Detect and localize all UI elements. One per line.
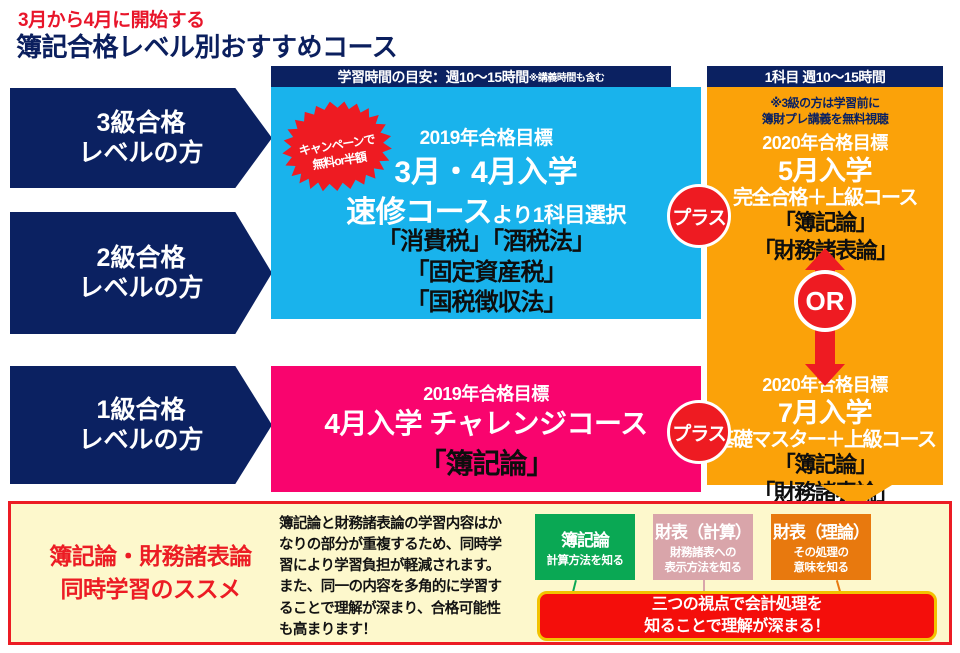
level-grade2-line2: レベルの方 bbox=[78, 273, 203, 304]
header-center-main-text: 学習時間の目安：週10〜15時間 bbox=[338, 67, 529, 87]
level-arrow-grade2[interactable]: 2級合格 レベルの方 bbox=[10, 212, 272, 334]
blue-subject-line2: 「固定資産税」 bbox=[271, 258, 701, 289]
chip-green-title: 簿記論 bbox=[561, 526, 609, 551]
plus-badge-top: プラス bbox=[667, 184, 731, 248]
level-grade1-line2: レベルの方 bbox=[78, 425, 203, 456]
chip-pink-desc1: 財務諸表への bbox=[670, 546, 736, 561]
bottom-title-line2: 同時学習のススメ bbox=[33, 573, 268, 606]
level-grade3-line2: レベルの方 bbox=[78, 138, 203, 169]
or-badge: OR bbox=[794, 270, 856, 332]
chip-pink-desc2: 表示方法を知る bbox=[665, 561, 742, 576]
arrow-down-head-icon bbox=[805, 364, 845, 386]
orange-note: ※3級の方は学習前に 簿財プレ講義を無料視聴 bbox=[707, 95, 943, 127]
infographic-canvas: 3月から4月に開始する 簿記合格レベル別おすすめコース 学習時間の目安：週10〜… bbox=[0, 0, 960, 653]
header-study-time-right: 1科目 週10〜15時間 bbox=[707, 66, 943, 87]
blue-subject-list: 「消費税」「酒税法」 「固定資産税」 「国税徴収法」 bbox=[271, 227, 701, 319]
level-grade2-line1: 2級合格 bbox=[97, 243, 186, 274]
level-grade1-line1: 1級合格 bbox=[97, 395, 186, 426]
blue-subject-line3: 「国税徴収法」 bbox=[271, 288, 701, 319]
concept-chip-zaihyo-riron: 財表（理論） その処理の 意味を知る bbox=[771, 514, 871, 580]
concept-chip-zaihyo-keisan: 財表（計算） 財務諸表への 表示方法を知る bbox=[653, 514, 753, 580]
course-panel-challenge[interactable]: 2019年合格目標 4月入学 チャレンジコース 「簿記論」 bbox=[271, 366, 701, 492]
chip-orange-desc2: 意味を知る bbox=[794, 561, 849, 576]
conclusion-callout: 三つの視点で会計処理を 知ることで理解が深まる！ bbox=[537, 591, 937, 641]
chip-orange-desc1: その処理の bbox=[794, 546, 849, 561]
level-arrow-grade1[interactable]: 1級合格 レベルの方 bbox=[10, 366, 272, 484]
chip-green-desc1: 計算方法を知る bbox=[547, 554, 624, 569]
bottom-box-title: 簿記論・財務諸表論 同時学習のススメ bbox=[33, 540, 268, 605]
bottom-title-line1: 簿記論・財務諸表論 bbox=[33, 540, 268, 573]
header-right-text: 1科目 週10〜15時間 bbox=[765, 67, 886, 87]
level-arrow-grade3[interactable]: 3級合格 レベルの方 bbox=[10, 88, 272, 188]
blue-course-label: 速修コースより1科目選択 bbox=[271, 187, 701, 231]
blue-subject-line1: 「消費税」「酒税法」 bbox=[271, 227, 701, 258]
callout-line2: 知ることで理解が深まる！ bbox=[644, 616, 830, 638]
pink-subject-label: 「簿記論」 bbox=[271, 442, 701, 482]
plus-badge-bottom: プラス bbox=[667, 400, 731, 464]
chip-pink-title: 財表（計算） bbox=[655, 518, 751, 543]
level-grade3-line1: 3級合格 bbox=[97, 108, 186, 139]
blue-course-main: 速修コース bbox=[346, 196, 492, 229]
concept-chip-boki: 簿記論 計算方法を知る bbox=[535, 514, 635, 580]
page-title: 簿記合格レベル別おすすめコース bbox=[16, 27, 397, 64]
chip-orange-title: 財表（理論） bbox=[773, 518, 869, 543]
callout-line1: 三つの視点で会計処理を bbox=[652, 594, 823, 616]
bottom-box-paragraph: 簿記論と財務諸表論の学習内容はかなりの部分が重複するため、同時学習により学習負担… bbox=[279, 514, 511, 641]
header-center-note-text: ※講義時間も含む bbox=[529, 69, 605, 84]
orange-note-line1: ※3級の方は学習前に bbox=[707, 95, 943, 111]
orange-note-line2: 簿財プレ講義を無料視聴 bbox=[707, 111, 943, 127]
pink-course-label: 4月入学 チャレンジコース bbox=[271, 402, 701, 442]
blue-course-suffix: より1科目選択 bbox=[492, 204, 626, 227]
header-study-time-center: 学習時間の目安：週10〜15時間 ※講義時間も含む bbox=[271, 66, 671, 87]
